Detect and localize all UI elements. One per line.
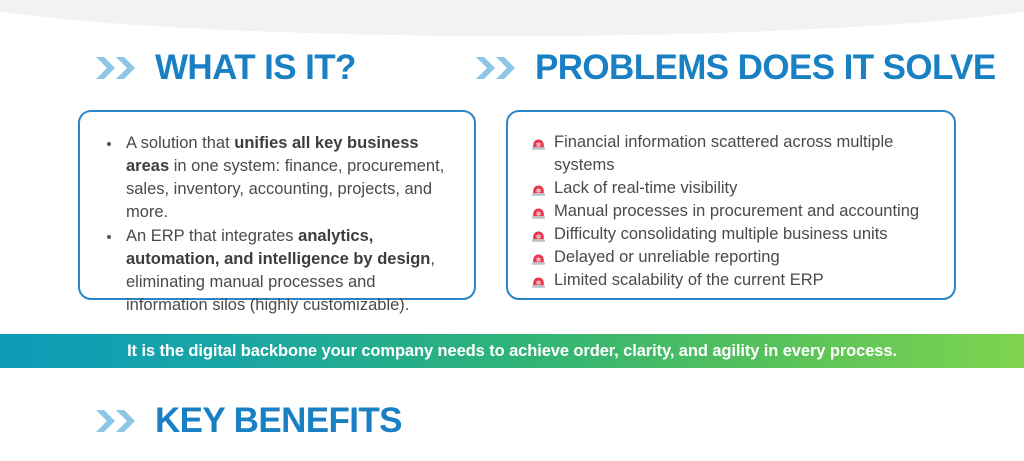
list-item: An ERP that integrates analytics, automa…	[122, 225, 458, 317]
section-heading-what-is-it: WHAT IS IT?	[94, 50, 356, 85]
double-chevron-right-icon	[94, 408, 141, 434]
page-title-problems: PROBLEMS DOES IT SOLVE	[535, 50, 996, 85]
list-item: Limited scalability of the current ERP	[530, 269, 944, 292]
list-item: Financial information scattered across m…	[530, 131, 944, 177]
tagline-banner: It is the digital backbone your company …	[0, 334, 1024, 368]
top-curve-decoration	[0, 0, 1024, 50]
slide-canvas: WHAT IS IT? A solution that unifies all …	[0, 0, 1024, 461]
page-title-what-is-it: WHAT IS IT?	[155, 50, 356, 85]
tagline-text: It is the digital backbone your company …	[127, 342, 897, 361]
bullet-tail-text: in one system: finance, procurement, sal…	[126, 157, 444, 221]
section-heading-problems: PROBLEMS DOES IT SOLVE	[474, 50, 996, 85]
list-item-label: Delayed or unreliable reporting	[554, 246, 780, 269]
siren-light-icon	[530, 225, 547, 244]
siren-light-icon	[530, 271, 547, 290]
section-heading-key-benefits: KEY BENEFITS	[94, 403, 402, 438]
siren-light-icon	[530, 133, 547, 152]
bullet-lead-text: A solution that	[126, 134, 234, 152]
card-what-is-it: A solution that unifies all key business…	[78, 110, 476, 300]
list-item: Delayed or unreliable reporting	[530, 246, 944, 269]
list-item: Manual processes in procurement and acco…	[530, 200, 944, 223]
list-item-label: Lack of real-time visibility	[554, 177, 737, 200]
list-item-label: Difficulty consolidating multiple busine…	[554, 223, 888, 246]
double-chevron-right-icon	[474, 55, 521, 81]
double-chevron-right-icon	[94, 55, 141, 81]
list-item: A solution that unifies all key business…	[122, 132, 458, 224]
siren-light-icon	[530, 248, 547, 267]
list-item-label: Manual processes in procurement and acco…	[554, 200, 919, 223]
list-item: Difficulty consolidating multiple busine…	[530, 223, 944, 246]
top-curve-shape	[0, 0, 1024, 50]
problems-bullet-list: Financial information scattered across m…	[508, 112, 954, 292]
page-title-key-benefits: KEY BENEFITS	[155, 403, 402, 438]
siren-light-icon	[530, 179, 547, 198]
what-is-it-bullet-list: A solution that unifies all key business…	[80, 112, 474, 317]
list-item: Lack of real-time visibility	[530, 177, 944, 200]
list-item-label: Financial information scattered across m…	[554, 131, 944, 177]
siren-light-icon	[530, 202, 547, 221]
card-problems: Financial information scattered across m…	[506, 110, 956, 300]
bullet-lead-text: An ERP that integrates	[126, 227, 298, 245]
list-item-label: Limited scalability of the current ERP	[554, 269, 824, 292]
